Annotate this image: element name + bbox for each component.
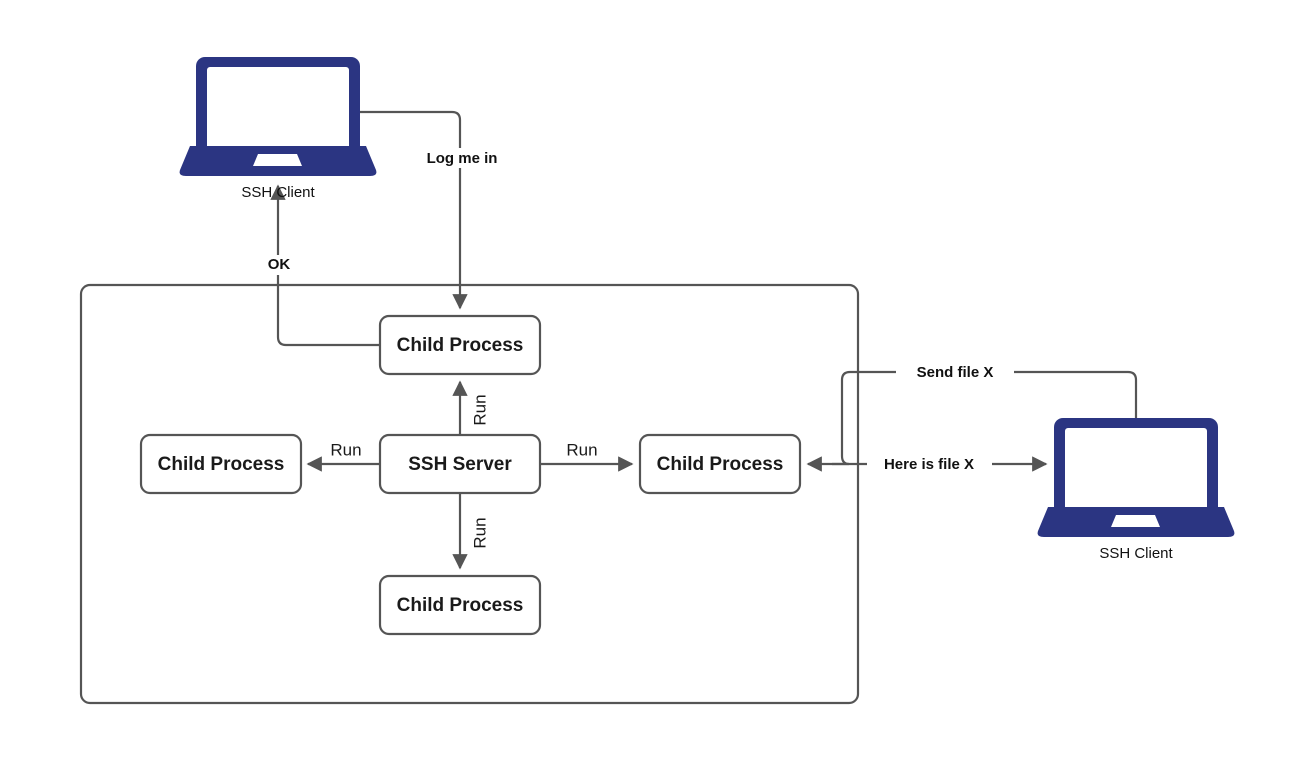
edge-label-log-me-in: Log me in (427, 150, 498, 167)
laptop-icon-ssh-client-top[interactable]: SSH Client (180, 57, 377, 201)
edge-label-run-left: Run (330, 440, 361, 459)
node-label-child-top: Child Process (397, 335, 524, 356)
edge-label-send-file-x: Send file X (917, 364, 994, 381)
laptop-top-screen (207, 67, 349, 156)
edge-label-run-up: Run (470, 394, 489, 425)
edge-label-run-down: Run (470, 517, 489, 548)
edge-run-right: Run (540, 440, 632, 464)
node-child-process-bottom[interactable]: Child Process (380, 576, 540, 634)
edge-run-down: Run (460, 493, 489, 568)
node-label-child-left: Child Process (158, 454, 285, 475)
device-label-ssh-client-right: SSH Client (1099, 545, 1173, 562)
laptop-top-notch (253, 154, 302, 166)
node-child-process-right[interactable]: Child Process (640, 435, 800, 493)
node-child-process-top[interactable]: Child Process (380, 316, 540, 374)
node-child-process-left[interactable]: Child Process (141, 435, 301, 493)
node-label-ssh-server: SSH Server (408, 454, 512, 475)
laptop-right-notch (1111, 515, 1160, 527)
edge-log-me-in: Log me in (360, 112, 510, 308)
edge-run-up: Run (460, 382, 489, 435)
ssh-architecture-diagram: Log me in OK Run Run Run Run (0, 0, 1312, 759)
node-label-child-right: Child Process (657, 454, 784, 475)
node-ssh-server[interactable]: SSH Server (380, 435, 540, 493)
edge-label-here-is-file-x: Here is file X (884, 456, 974, 473)
device-label-ssh-client-top: SSH Client (241, 184, 315, 201)
edge-label-run-right: Run (566, 440, 597, 459)
laptop-icon-ssh-client-right[interactable]: SSH Client (1038, 418, 1235, 562)
edge-label-ok: OK (268, 256, 291, 273)
edge-run-left: Run (308, 440, 380, 464)
laptop-right-screen (1065, 428, 1207, 517)
edge-here-is-file-x: Here is file X (808, 454, 1046, 474)
diagram-canvas: Log me in OK Run Run Run Run (0, 0, 1312, 759)
edge-ok: OK (258, 186, 380, 345)
node-label-child-bottom: Child Process (397, 595, 524, 616)
